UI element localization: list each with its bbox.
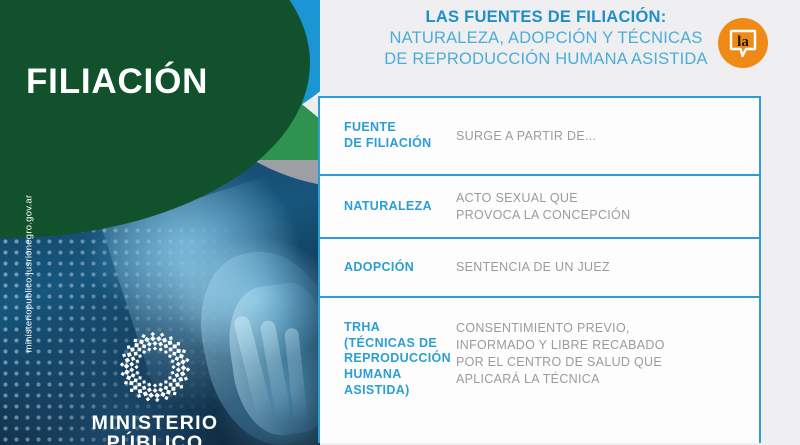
header-line-3: DE REPRODUCCIÓN HUMANA ASISTIDA (320, 49, 772, 70)
table-cell-value: ACTO SEXUAL QUEPROVOCA LA CONCEPCIÓN (456, 190, 759, 224)
table-cell-key: ADOPCIÓN (320, 260, 456, 276)
organization-name-line1: MINISTERIO (85, 413, 225, 433)
table-row: FUENTEDE FILIACIÓN SURGE A PARTIR DE... (320, 98, 759, 176)
table-cell-key: NATURALEZA (320, 199, 456, 215)
organization-name-line2: PÚBLICO (85, 433, 225, 445)
table-cell-value: SENTENCIA DE UN JUEZ (456, 259, 759, 276)
website-url: ministeriopublico.jusrionegro.gov.ar (24, 189, 35, 359)
organization-name: MINISTERIO PÚBLICO (85, 413, 225, 445)
table-cell-value: SURGE A PARTIR DE... (456, 128, 759, 145)
header-title-block: LAS FUENTES DE FILIACIÓN: NATURALEZA, AD… (320, 7, 772, 70)
speech-bubble-icon: la (718, 18, 768, 68)
table-row: TRHA(TÉCNICAS DEREPRODUCCIÓNHUMANAASISTI… (320, 298, 759, 443)
filiacion-table: FUENTEDE FILIACIÓN SURGE A PARTIR DE... … (318, 96, 761, 443)
header-line-1: LAS FUENTES DE FILIACIÓN: (320, 7, 772, 28)
left-graphic-panel: FILIACIÓN ministeriopublico.jusrionegro.… (0, 0, 320, 445)
page-title: FILIACIÓN (26, 62, 208, 102)
header-line-2: NATURALEZA, ADOPCIÓN Y TÉCNICAS (320, 28, 772, 49)
la-badge[interactable]: la (718, 18, 768, 68)
table-row: NATURALEZA ACTO SEXUAL QUEPROVOCA LA CON… (320, 176, 759, 239)
table-cell-value: CONSENTIMIENTO PREVIO,INFORMADO Y LIBRE … (456, 298, 759, 388)
slide-canvas: FILIACIÓN ministeriopublico.jusrionegro.… (0, 0, 800, 445)
la-badge-label: la (737, 34, 749, 50)
ministerio-logo: MINISTERIO PÚBLICO (85, 330, 225, 445)
table-cell-key: TRHA(TÉCNICAS DEREPRODUCCIÓNHUMANAASISTI… (320, 298, 456, 398)
circular-mandala-logo-icon (85, 330, 225, 409)
table-row: ADOPCIÓN SENTENCIA DE UN JUEZ (320, 239, 759, 298)
table-cell-key: FUENTEDE FILIACIÓN (320, 120, 456, 151)
